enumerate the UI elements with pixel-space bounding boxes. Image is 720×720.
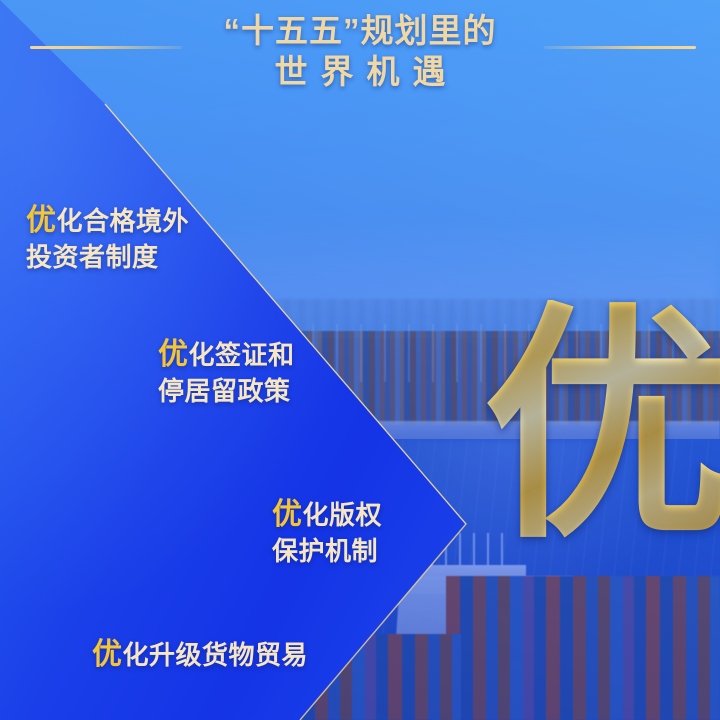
page-title: “十五五”规划里的 世界机遇 xyxy=(0,10,720,92)
poster-header: “十五五”规划里的 世界机遇 xyxy=(0,0,720,112)
title-line-2: 世界机遇 xyxy=(0,51,720,92)
item-highlight-char: 优 xyxy=(272,498,303,531)
item-highlight-char: 优 xyxy=(92,638,123,671)
list-item: 优化升级货物贸易 xyxy=(92,637,308,673)
item-line-1: 优化版权 xyxy=(272,497,382,533)
item-line-1: 优化签证和 xyxy=(158,337,295,373)
item-line-1-rest: 化签证和 xyxy=(189,340,295,370)
list-item: 优化合格境外 投资者制度 xyxy=(26,203,189,275)
item-line-2: 保护机制 xyxy=(272,533,382,569)
list-item: 优化签证和 停居留政策 xyxy=(158,337,295,409)
item-line-1: 优化升级货物贸易 xyxy=(92,637,308,673)
item-line-2: 投资者制度 xyxy=(26,239,189,275)
item-highlight-char: 优 xyxy=(158,338,189,371)
poster-canvas: 优 “十五五”规划里的 世界机遇 优化合格境外 投资者制度 优化签证和 停居留政… xyxy=(0,0,720,720)
item-line-1: 优化合格境外 xyxy=(26,203,189,239)
feature-character: 优 xyxy=(483,300,720,550)
item-highlight-char: 优 xyxy=(26,204,57,237)
list-item: 优化版权 保护机制 xyxy=(272,497,382,569)
title-line-1: “十五五”规划里的 xyxy=(224,12,497,49)
item-line-1-rest: 化合格境外 xyxy=(57,206,190,236)
item-line-2: 停居留政策 xyxy=(158,373,295,409)
item-line-1-rest: 化版权 xyxy=(303,500,383,530)
item-line-1-rest: 化升级货物贸易 xyxy=(123,640,309,670)
